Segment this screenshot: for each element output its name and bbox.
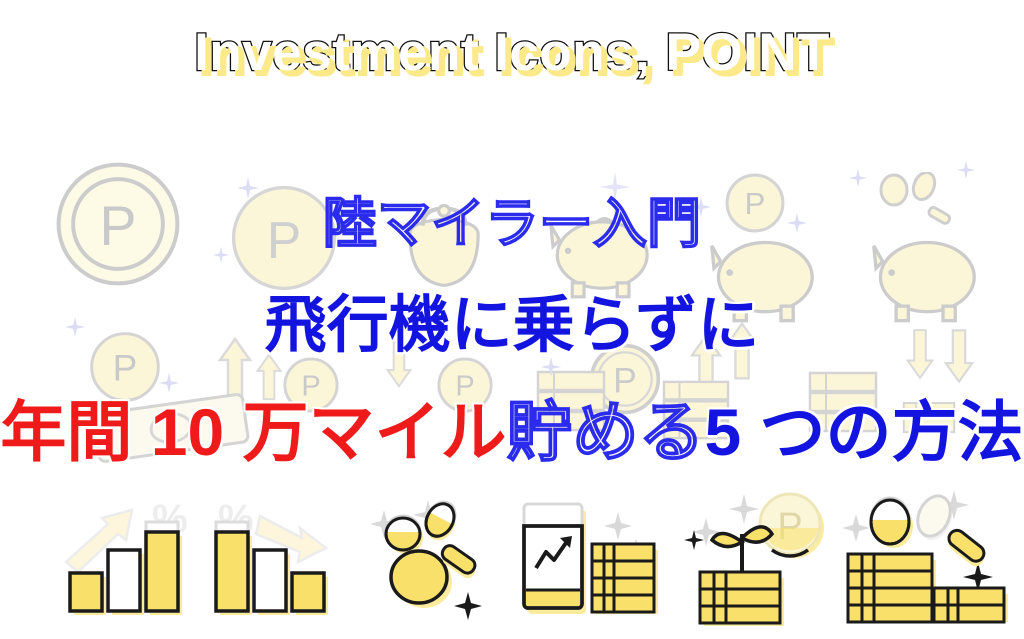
sparkle-icon xyxy=(842,514,870,542)
headline-line-2: 飛行機に乗らずに xyxy=(0,274,1024,364)
point-coin-icon: P xyxy=(760,494,824,558)
poster-canvas: P P P xyxy=(0,0,1024,639)
money-stack-icon xyxy=(934,588,1008,622)
headline-line-3-segment-blue: 5 つの方法 xyxy=(705,395,1024,469)
bar-chart-up-icon: % xyxy=(48,476,198,631)
money-stack-icon xyxy=(592,544,658,614)
money-sprout-icon: P xyxy=(672,476,832,631)
sparkle-icon xyxy=(956,160,976,180)
money-stack-icon xyxy=(700,572,784,626)
headline-line-3-segment-red: 年間 10 万マイル xyxy=(0,395,506,469)
sparkle-icon xyxy=(604,512,632,540)
sprout-icon xyxy=(712,527,772,572)
sparkle-icon xyxy=(729,494,759,524)
icon-strip: % % xyxy=(0,476,1024,639)
headline-line-1-text: 陸マイラー入門 xyxy=(323,194,701,254)
bar-chart-down-icon: % xyxy=(198,476,348,631)
headline-line-2-text: 飛行機に乗らずに xyxy=(265,291,760,360)
page-title: Investment Icons, POINT xyxy=(194,22,830,83)
growth-chart-money-icon xyxy=(512,476,672,631)
money-stacks-coins-icon xyxy=(838,476,1018,631)
falling-coins-icon xyxy=(362,476,512,631)
headline-line-1: 陸マイラー入門 xyxy=(0,179,1024,258)
poster-title-band: Investment Icons, POINT xyxy=(0,22,1024,83)
headline-line-3: 年間 10 万マイル貯める5 つの方法 xyxy=(0,379,1024,475)
sparkle-icon xyxy=(454,592,482,620)
money-stack-icon xyxy=(848,554,936,622)
headline-line-3-segment-hollow: 貯める xyxy=(507,395,705,469)
